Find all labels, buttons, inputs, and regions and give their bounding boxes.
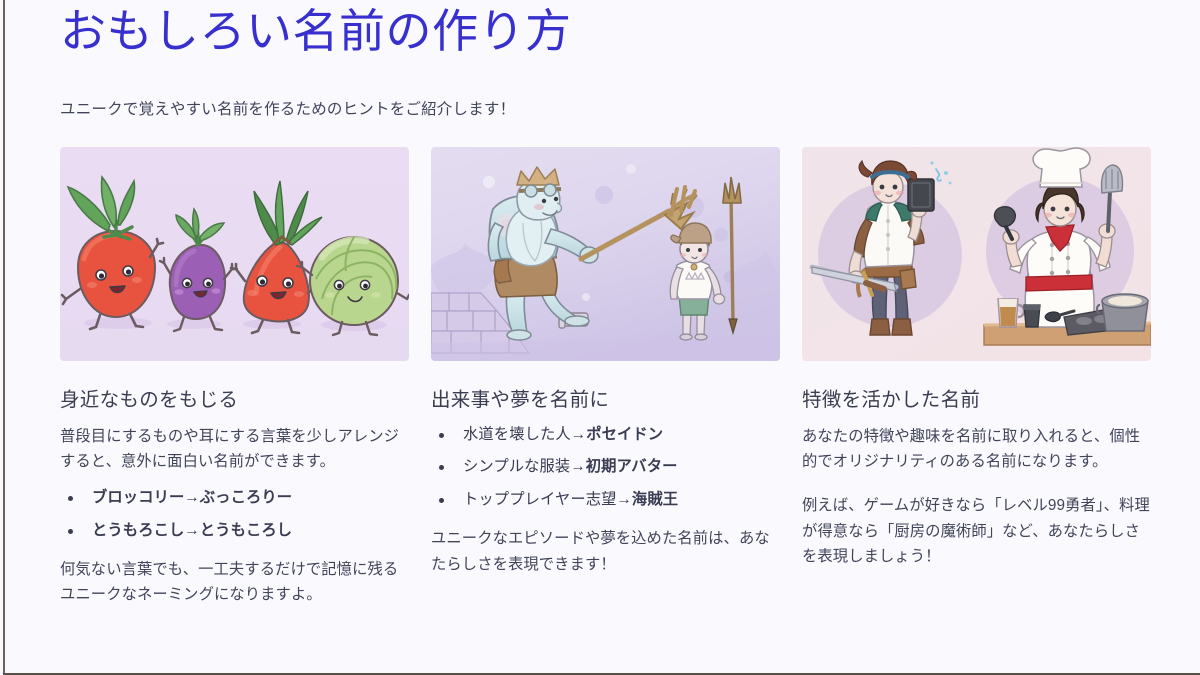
- column-1-heading: 身近なものをもじる: [60, 383, 409, 412]
- adventurer-and-chef-illustration: [802, 147, 1151, 361]
- list-item: ブロッコリー→ぶっころりー: [60, 485, 409, 512]
- bullet-bold: 初期アバター: [586, 458, 678, 475]
- column-3-paragraph-top: あなたの特徴や趣味を名前に取り入れると、個性的でオリジナリティのある名前になりま…: [802, 424, 1151, 475]
- bullet-prefix: シンプルな服装→: [463, 458, 586, 475]
- column-3-paragraph-bottom: 例えば、ゲームが好きなら「レベル99勇者」、料理が得意なら「厨房の魔術師」など、…: [802, 493, 1151, 570]
- column-1: 身近なものをもじる 普段目にするものや耳にする言葉を少しアレンジすると、意外に面…: [60, 147, 409, 608]
- poseidon-and-child-illustration: [431, 147, 780, 361]
- column-2: 出来事や夢を名前に 水道を壊した人→ポセイドン シンプルな服装→初期アバター ト…: [431, 147, 780, 608]
- column-3-heading: 特徴を活かした名前: [802, 383, 1151, 412]
- list-item: 水道を壊した人→ポセイドン: [431, 422, 780, 449]
- bullet-prefix: 水道を壊した人→: [463, 426, 586, 443]
- content-columns: 身近なものをもじる 普段目にするものや耳にする言葉を少しアレンジすると、意外に面…: [60, 147, 1140, 608]
- list-item: シンプルな服装→初期アバター: [431, 454, 780, 481]
- page-subtitle: ユニークで覚えやすい名前を作るためのヒントをご紹介します！: [60, 97, 1140, 119]
- column-2-bullet-list: 水道を壊した人→ポセイドン シンプルな服装→初期アバター トッププレイヤー志望→…: [431, 422, 780, 514]
- column-1-bullet-list: ブロッコリー→ぶっころりー とうもろこし→とうもころし: [60, 485, 409, 545]
- bullet-prefix: トッププレイヤー志望→: [463, 491, 632, 508]
- slide-page: おもしろい名前の作り方 ユニークで覚えやすい名前を作るためのヒントをご紹介します…: [0, 0, 1200, 675]
- bullet-text: とうもろこし→とうもころし: [92, 522, 292, 539]
- column-2-paragraph-bottom: ユニークなエピソードや夢を込めた名前は、あなたらしさを表現できます！: [431, 526, 780, 577]
- page-title: おもしろい名前の作り方: [60, 6, 1140, 57]
- page-frame-left-border: [3, 0, 5, 675]
- list-item: トッププレイヤー志望→海賊王: [431, 487, 780, 514]
- list-item: とうもろこし→とうもころし: [60, 518, 409, 545]
- bullet-text: ブロッコリー→ぶっころりー: [92, 489, 292, 506]
- vegetable-characters-illustration: [60, 147, 409, 361]
- bullet-bold: 海賊王: [632, 491, 678, 508]
- bullet-bold: ポセイドン: [586, 426, 663, 443]
- column-2-heading: 出来事や夢を名前に: [431, 383, 780, 412]
- column-3: 特徴を活かした名前 あなたの特徴や趣味を名前に取り入れると、個性的でオリジナリテ…: [802, 147, 1151, 608]
- column-1-paragraph-bottom: 何気ない言葉でも、一工夫するだけで記憶に残るユニークなネーミングになりますよ。: [60, 557, 409, 608]
- column-1-paragraph-top: 普段目にするものや耳にする言葉を少しアレンジすると、意外に面白い名前ができます。: [60, 424, 409, 475]
